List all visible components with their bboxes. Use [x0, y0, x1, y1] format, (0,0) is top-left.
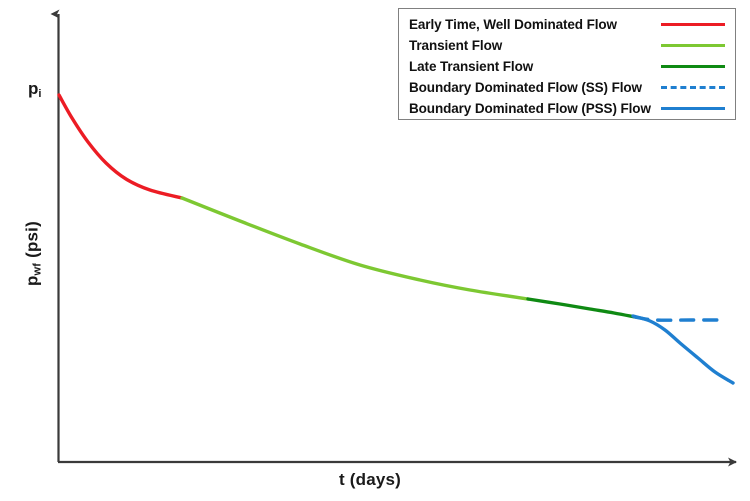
legend-item-2[interactable]: Late Transient Flow — [399, 56, 735, 77]
series-line-1 — [182, 198, 528, 299]
legend-item-label: Late Transient Flow — [409, 59, 533, 74]
legend-item-1[interactable]: Transient Flow — [399, 35, 735, 56]
legend-swatch-icon — [661, 23, 725, 26]
pi-subscript: i — [38, 88, 41, 100]
series-line-2 — [528, 299, 635, 317]
series-line-0 — [59, 95, 182, 198]
legend-item-0[interactable]: Early Time, Well Dominated Flow — [399, 14, 735, 35]
legend-item-3[interactable]: Boundary Dominated Flow (SS) Flow — [399, 77, 735, 98]
legend-swatch-icon — [661, 107, 725, 110]
pi-base: p — [28, 79, 38, 98]
y-axis-title-base: p — [22, 275, 41, 286]
y-axis-title-subscript: wf — [32, 263, 44, 276]
legend-swatch-icon — [661, 44, 725, 47]
legend-rows: Early Time, Well Dominated FlowTransient… — [399, 9, 735, 119]
legend-swatch-icon — [661, 86, 725, 89]
legend-item-label: Boundary Dominated Flow (PSS) Flow — [409, 101, 651, 116]
legend-item-label: Boundary Dominated Flow (SS) Flow — [409, 80, 642, 95]
y-axis-title: pwf (psi) — [22, 199, 43, 309]
series-group — [59, 95, 733, 383]
y-axis-title-units: (psi) — [22, 221, 41, 263]
legend-swatch-icon — [661, 65, 725, 68]
initial-pressure-label: pi — [28, 79, 41, 100]
legend-item-label: Early Time, Well Dominated Flow — [409, 17, 617, 32]
legend-item-label: Transient Flow — [409, 38, 502, 53]
pressure-vs-time-chart: pi pwf (psi) t (days) Early Time, Well D… — [0, 0, 750, 501]
x-axis-title: t (days) — [305, 470, 435, 490]
series-line-4 — [633, 316, 733, 383]
legend: Early Time, Well Dominated FlowTransient… — [398, 8, 736, 120]
legend-item-4[interactable]: Boundary Dominated Flow (PSS) Flow — [399, 98, 735, 119]
